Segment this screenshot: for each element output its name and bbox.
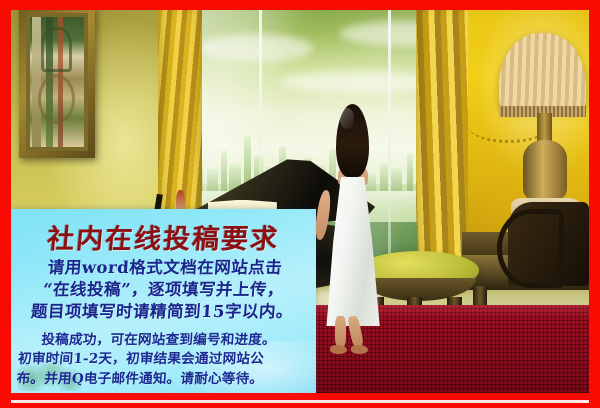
panel-notes: 投稿成功，可在网站查到编号和进度。 初审时间1-2天，初审结果会通过网站公 布。… [11, 331, 316, 389]
poster-root: 社内在线投稿要求 请用word格式文档在网站点击 “在线投稿”，逐项填写并上传，… [0, 0, 600, 408]
requirement-line-2: “在线投稿”，逐项填写并上传， [11, 279, 316, 301]
note-line-1: 投稿成功，可在网站查到编号和进度。 [19, 331, 313, 350]
requirement-line-1: 请用word格式文档在网站点击 [12, 257, 316, 279]
note-line-3: 布。并用Q电子邮件通知。请耐心等待。 [16, 369, 310, 388]
artwork-canvas [30, 17, 84, 147]
bottom-white-strip [11, 400, 589, 403]
note-line-2: 初审时间1-2天，初审结果会通过网站公 [17, 350, 311, 369]
framed-artwork [19, 10, 95, 158]
woman-leg [335, 316, 346, 347]
room-photo: 社内在线投稿要求 请用word格式文档在网站点击 “在线投稿”，逐项填写并上传，… [11, 10, 589, 393]
panel-requirements: 请用word格式文档在网站点击 “在线投稿”，逐项填写并上传， 题目项填写时请精… [11, 257, 316, 323]
announcement-panel: 社内在线投稿要求 请用word格式文档在网站点击 “在线投稿”，逐项填写并上传，… [11, 209, 316, 393]
panel-title: 社内在线投稿要求 [11, 217, 316, 256]
requirement-line-3: 题目项填写时请精简到15字以内。 [11, 301, 315, 323]
dark-chair-arm [497, 209, 565, 288]
lamp-body [523, 140, 567, 201]
